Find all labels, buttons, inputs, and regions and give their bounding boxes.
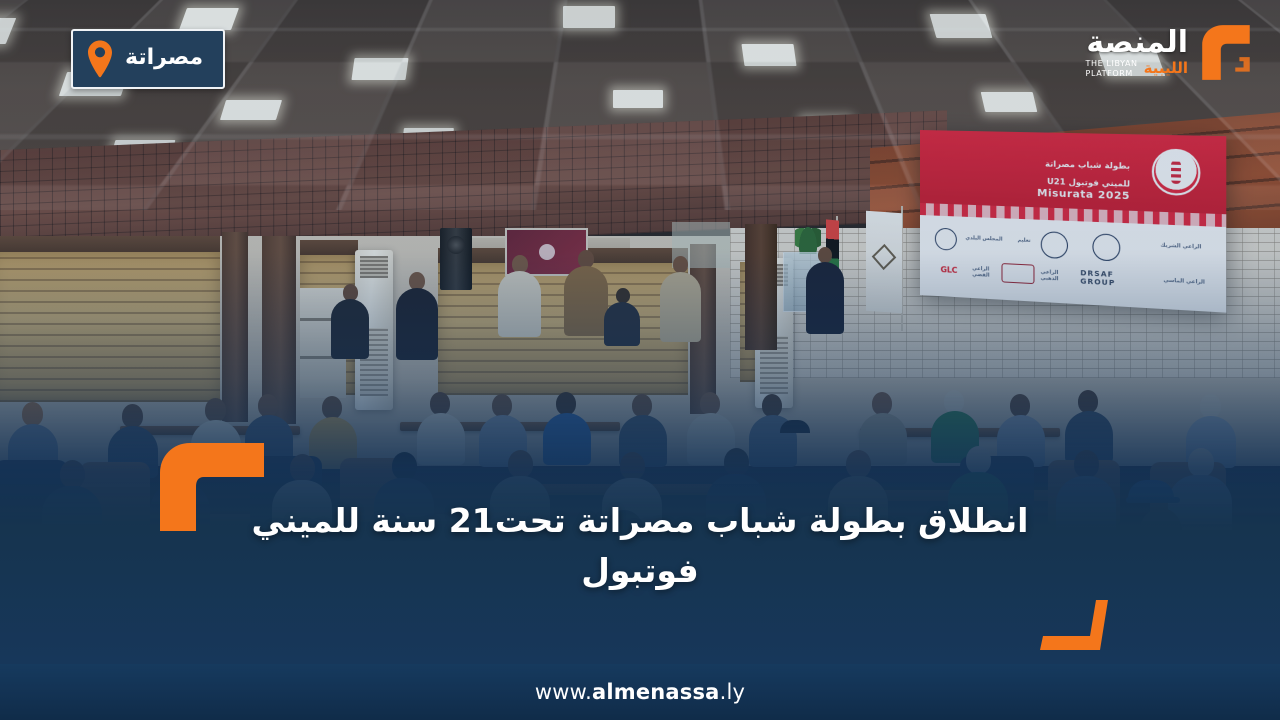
brand-arabic-primary: المنصة: [1086, 29, 1188, 58]
brand-english: THE LIBYAN PLATFORM: [1086, 59, 1138, 79]
url-prefix: www.: [535, 680, 592, 704]
headline: انطلاق بطولة شباب مصراتة تحت21 سنة للمين…: [0, 496, 1280, 595]
brand-english-line1: THE LIBYAN: [1086, 59, 1138, 68]
location-label: مصراتة: [125, 47, 203, 71]
brand-english-line2: PLATFORM: [1086, 69, 1133, 78]
brand-mark-icon: [1196, 22, 1258, 86]
footer-bar: www.almenassa.ly: [0, 664, 1280, 720]
website-url[interactable]: www.almenassa.ly: [535, 680, 745, 704]
url-tld: .ly: [720, 680, 746, 704]
brand-arabic-secondary: الليبية: [1144, 61, 1188, 76]
brand-text: المنصة THE LIBYAN PLATFORM الليبية: [1086, 29, 1188, 79]
orange-corner-icon: [1040, 600, 1124, 658]
url-main: almenassa: [592, 680, 720, 704]
brand-logo[interactable]: المنصة THE LIBYAN PLATFORM الليبية: [1086, 22, 1258, 86]
brand-subline: THE LIBYAN PLATFORM الليبية: [1086, 59, 1188, 79]
location-badge[interactable]: مصراتة: [71, 29, 225, 89]
map-pin-icon: [85, 39, 115, 79]
news-card: بطولة شباب مصراتة للميني فوتبول U21 Misu…: [0, 0, 1280, 720]
